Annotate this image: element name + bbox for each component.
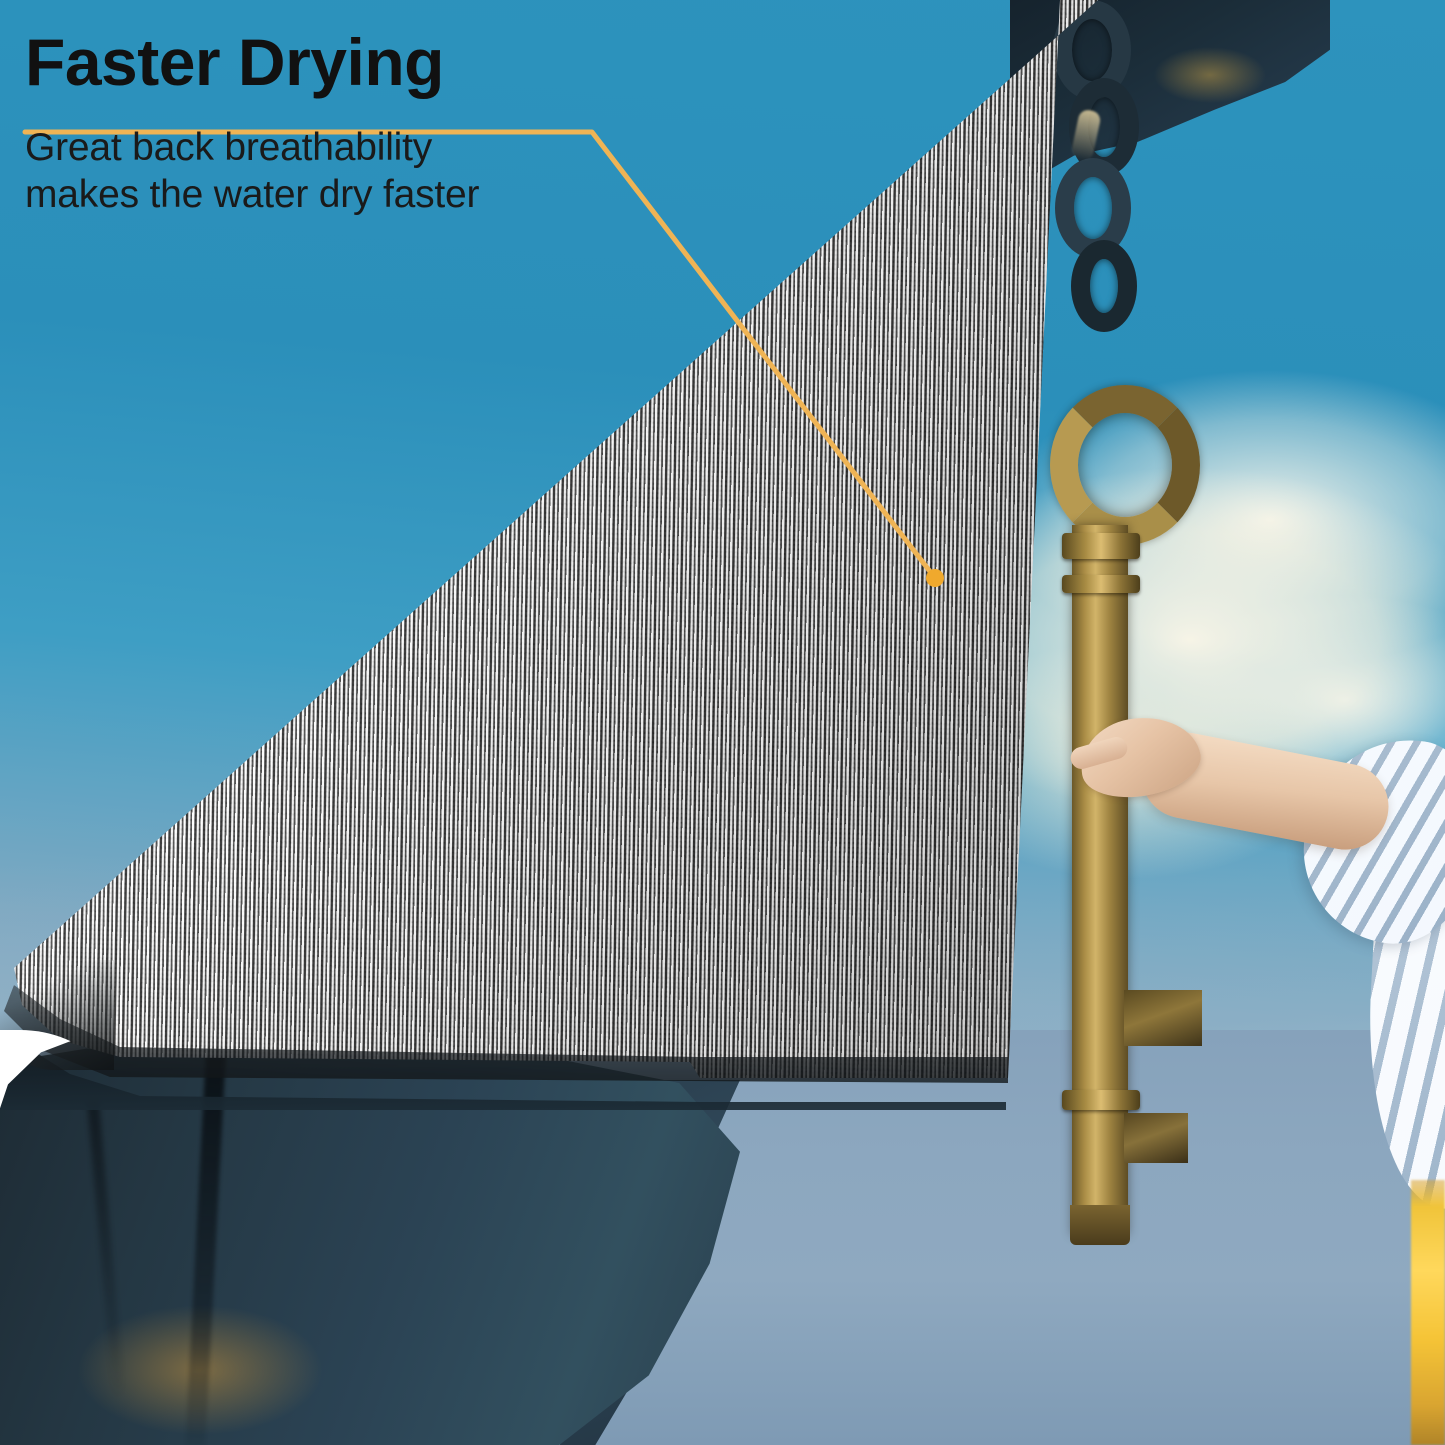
key-collar: [1062, 533, 1140, 559]
key-tip: [1070, 1205, 1130, 1245]
callout-text-block: Faster Drying Great back breathability m…: [25, 26, 665, 218]
figure-reaching: [1070, 690, 1445, 1210]
callout-description-line-1: Great back breathability: [25, 126, 432, 169]
gold-edge-highlight: [1411, 1180, 1445, 1445]
callout-description: Great back breathability makes the water…: [25, 124, 665, 218]
callout-description-line-2: makes the water dry faster: [25, 171, 665, 218]
key-bow: [1050, 385, 1200, 545]
infographic-canvas: Faster Drying Great back breathability m…: [0, 0, 1445, 1445]
mat-corner-top-right: [1160, 0, 1445, 40]
key-collar: [1062, 575, 1140, 593]
page-title: Faster Drying: [25, 26, 665, 98]
